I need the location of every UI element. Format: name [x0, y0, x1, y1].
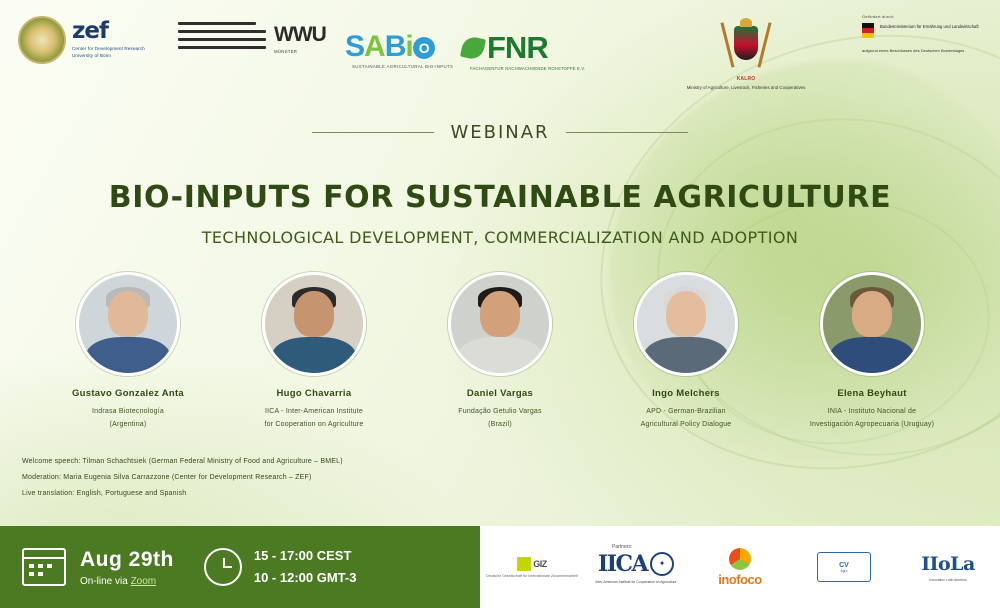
speaker-org-line2: Agricultural Policy Dialogue — [598, 418, 774, 431]
speaker-name: Gustavo Gonzalez Anta — [40, 388, 216, 399]
avatar — [76, 272, 180, 376]
speaker-org-line1: INIA - Instituto Nacional de — [784, 405, 960, 418]
sabio-globe-icon: O — [413, 37, 435, 59]
wwu-subtitle: MÜNSTER — [274, 49, 326, 54]
speaker-name: Daniel Vargas — [412, 388, 588, 399]
zef-acronym: zef — [72, 20, 158, 43]
zoom-link[interactable]: Zoom — [131, 576, 157, 587]
german-flag-icon — [862, 23, 874, 38]
bmel-logo: Gefördert durch: Bundesministerium für E… — [862, 14, 992, 55]
clock-icon — [204, 548, 242, 586]
sabio-subtitle: SUSTAINABLE AGRICULTURAL BIO-INPUTS — [352, 64, 453, 69]
note-moderation: Moderation: Maria Eugenia Silva Carrazzo… — [22, 474, 662, 481]
partner-name: IICA — [598, 551, 647, 577]
leaf-icon — [460, 35, 486, 61]
note-translation: Live translation: English, Portuguese an… — [22, 490, 662, 497]
event-time-gmt3: 10 - 12:00 GMT-3 — [254, 567, 357, 589]
iica-globe-icon: ✦ — [650, 552, 674, 576]
speaker-name: Ingo Melchers — [598, 388, 774, 399]
event-subtitle: TECHNOLOGICAL DEVELOPMENT, COMMERCIALIZA… — [0, 228, 1000, 247]
webinar-kicker-row: WEBINAR — [0, 120, 1000, 143]
partner-subtitle: Innovation Latin America — [929, 578, 966, 582]
speaker-org-line1: IICA - Inter-American Institute — [226, 405, 402, 418]
partner-iica: IICA ✦ Inter-American Institute for Coop… — [584, 551, 688, 584]
bmel-footer-note: aufgrund eines Beschlusses des Deutschen… — [862, 48, 992, 55]
speaker-card: Hugo Chavarria IICA - Inter-American Ins… — [226, 272, 402, 432]
event-details-bar: Aug 29th On-line via Zoom 15 - 17:00 CES… — [0, 526, 480, 608]
partners-label: Partners: — [612, 544, 632, 550]
event-notes: Welcome speech: Tilman Schachtsiek (Germ… — [22, 458, 662, 506]
event-format-label: On-line via — [80, 576, 131, 587]
divider-right — [566, 132, 688, 133]
fnr-subtitle: FACHAGENTUR NACHWACHSENDE ROHSTOFFE E.V. — [470, 66, 585, 71]
speaker-org-line2: Investigación Agropecuaria (Uruguay) — [784, 418, 960, 431]
speaker-org-line2: (Argentina) — [40, 418, 216, 431]
partner-subtitle: Agro — [841, 569, 848, 573]
poster-canvas: zef Center for Development Research Univ… — [0, 0, 1000, 608]
event-title: BIO-INPUTS FOR SUSTAINABLE AGRICULTURE — [0, 180, 1000, 215]
speaker-org-line1: APD - German-Brazilian — [598, 405, 774, 418]
avatar — [634, 272, 738, 376]
bmel-funding-note: Gefördert durch: — [862, 14, 992, 19]
avatar — [262, 272, 366, 376]
zef-subtitle: Center for Development Research Universi… — [72, 46, 158, 60]
speaker-org-line2: for Cooperation on Agriculture — [226, 418, 402, 431]
webinar-kicker: WEBINAR — [450, 122, 549, 143]
note-welcome-speech: Welcome speech: Tilman Schachtsiek (Germ… — [22, 458, 662, 465]
partner-iola: IIoLa Innovation Latin America — [896, 553, 1000, 582]
wwu-bars-icon — [178, 22, 266, 54]
logo-bar: zef Center for Development Research Univ… — [0, 0, 1000, 108]
avatar — [820, 272, 924, 376]
divider-left — [312, 132, 434, 133]
speaker-org-line1: Indrasa Biotecnología — [40, 405, 216, 418]
event-time-cest: 15 - 17:00 CEST — [254, 545, 357, 567]
partner-giz: GIZ Deutsche Gesellschaft für Internatio… — [480, 557, 584, 578]
kenya-red-label: KALRO — [636, 76, 856, 82]
partner-inofoco: inofoco — [688, 548, 792, 587]
fnr-logo: FNR — [462, 30, 548, 66]
speaker-card: Elena Beyhaut INIA - Instituto Nacional … — [784, 272, 960, 432]
partner-name: inofoco — [718, 572, 761, 587]
speaker-org-line2: (Brazil) — [412, 418, 588, 431]
speaker-org-line1: Fundação Getulio Vargas — [412, 405, 588, 418]
partner-name: GIZ — [533, 559, 547, 569]
avatar — [448, 272, 552, 376]
partner-subtitle: Inter-American Institute for Cooperation… — [595, 580, 676, 584]
wwu-acronym: WWU — [274, 23, 326, 47]
sabio-logo: SABiO — [345, 30, 435, 64]
university-seal-icon — [18, 16, 66, 64]
speaker-card: Gustavo Gonzalez Anta Indrasa Biotecnolo… — [40, 272, 216, 432]
bmel-ministry-label: Bundesministerium für Ernährung und Land… — [880, 23, 979, 30]
kenya-ministry-logo: KALRO Ministry of Agriculture, Livestock… — [636, 22, 856, 91]
event-date: Aug 29th — [80, 548, 174, 572]
speaker-name: Elena Beyhaut — [784, 388, 960, 399]
fnr-acronym: FNR — [487, 30, 548, 66]
speaker-name: Hugo Chavarria — [226, 388, 402, 399]
partners-bar: Partners: GIZ Deutsche Gesellschaft für … — [480, 526, 1000, 608]
partner-cv: CV Agro — [792, 552, 896, 582]
kenya-coat-of-arms-icon — [718, 22, 774, 74]
giz-mark-icon — [517, 557, 531, 571]
speaker-card: Daniel Vargas Fundação Getulio Vargas (B… — [412, 272, 588, 432]
kenya-ministry-label: Ministry of Agriculture, Livestock, Fish… — [636, 84, 856, 91]
wwu-logo: WWU MÜNSTER — [178, 22, 326, 54]
partner-subtitle: Deutsche Gesellschaft für Internationale… — [486, 574, 578, 578]
speaker-card: Ingo Melchers APD - German-Brazilian Agr… — [598, 272, 774, 432]
partner-name: CV — [839, 562, 849, 569]
zef-logo: zef Center for Development Research Univ… — [18, 16, 158, 64]
speakers-row: Gustavo Gonzalez Anta Indrasa Biotecnolo… — [40, 272, 960, 432]
inofoco-mark-icon — [729, 548, 751, 570]
calendar-icon — [22, 548, 66, 586]
partner-name: IIoLa — [921, 553, 975, 575]
